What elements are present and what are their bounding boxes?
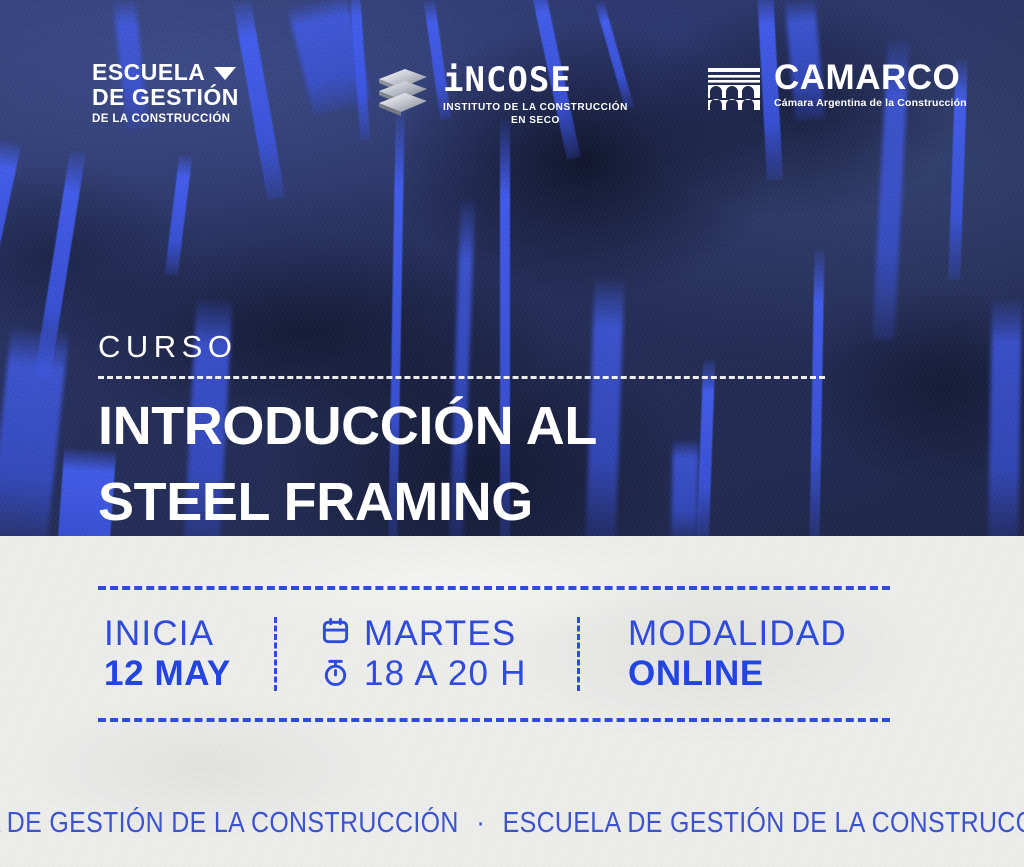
stopwatch-icon	[321, 658, 350, 692]
triangle-down-icon	[214, 67, 236, 80]
incose-wordmark: iNCOSE	[443, 63, 628, 97]
camarco-text-group: CAMARCO Cámara Argentina de la Construcc…	[774, 60, 967, 109]
incose-text-group: iNCOSE INSTITUTO DE LA CONSTRUCCIÓN EN S…	[443, 63, 628, 126]
incose-subtitle-1: INSTITUTO DE LA CONSTRUCCIÓN	[443, 102, 628, 113]
calendar-icon	[321, 617, 350, 651]
modality-value: ONLINE	[628, 654, 847, 694]
stacked-layers-icon	[375, 67, 431, 117]
schedule-day: MARTES	[364, 614, 527, 654]
start-date: 12 MAY	[104, 654, 274, 694]
info-modality-block: MODALIDAD ONLINE	[580, 614, 847, 694]
marquee-separator: ·	[466, 807, 495, 839]
camarco-wordmark: CAMARCO	[774, 60, 967, 96]
schedule-time: 18 A 20 H	[364, 654, 527, 694]
footer-marquee: ESCUELA DE GESTIÓN DE LA CONSTRUCCIÓN · …	[0, 800, 1024, 846]
course-title-line-1: INTRODUCCIÓN AL	[98, 397, 978, 455]
escuela-line2: DE GESTIÓN	[92, 85, 239, 110]
info-start-block: INICIA 12 MAY	[98, 614, 274, 694]
camarco-subtitle: Cámara Argentina de la Construcción	[774, 97, 967, 109]
logo-incose: iNCOSE INSTITUTO DE LA CONSTRUCCIÓN EN S…	[375, 63, 628, 126]
start-label: INICIA	[104, 614, 274, 654]
modality-label: MODALIDAD	[628, 614, 847, 654]
course-kicker: CURSO	[98, 330, 978, 364]
marquee-item: ESCUELA DE GESTIÓN DE LA CONSTRUCCIÓN	[0, 807, 459, 839]
escuela-line3: DE LA CONSTRUCCIÓN	[92, 113, 239, 125]
course-promo-poster: ESCUELA DE GESTIÓN DE LA CONSTRUCCIÓN	[0, 0, 1024, 867]
logo-escuela-de-gestion: ESCUELA DE GESTIÓN DE LA CONSTRUCCIÓN	[92, 60, 239, 125]
info-columns: INICIA 12 MAY	[98, 608, 898, 700]
incose-subtitle-2: EN SECO	[443, 115, 628, 126]
logo-row: ESCUELA DE GESTIÓN DE LA CONSTRUCCIÓN	[0, 0, 1024, 140]
schedule-icons	[321, 617, 350, 692]
marquee-item: ESCUELA DE GESTIÓN DE LA CONSTRUCCIÓN	[503, 807, 1024, 839]
info-dashed-rule-bottom	[98, 718, 890, 722]
logo-camarco: CAMARCO Cámara Argentina de la Construcc…	[706, 60, 967, 110]
info-schedule-block: MARTES 18 A 20 H	[277, 614, 577, 694]
course-title-line-2: STEEL FRAMING	[98, 473, 978, 531]
schedule-text: MARTES 18 A 20 H	[364, 614, 527, 694]
title-dashed-rule	[98, 376, 825, 379]
escuela-line1: ESCUELA	[92, 60, 205, 85]
aqueduct-bridge-icon	[706, 66, 762, 110]
escuela-line1-row: ESCUELA	[92, 60, 239, 85]
info-dashed-rule-top	[98, 586, 890, 590]
title-block: CURSO INTRODUCCIÓN AL STEEL FRAMING	[98, 330, 978, 531]
marquee-text: ESCUELA DE GESTIÓN DE LA CONSTRUCCIÓN · …	[0, 807, 1024, 840]
